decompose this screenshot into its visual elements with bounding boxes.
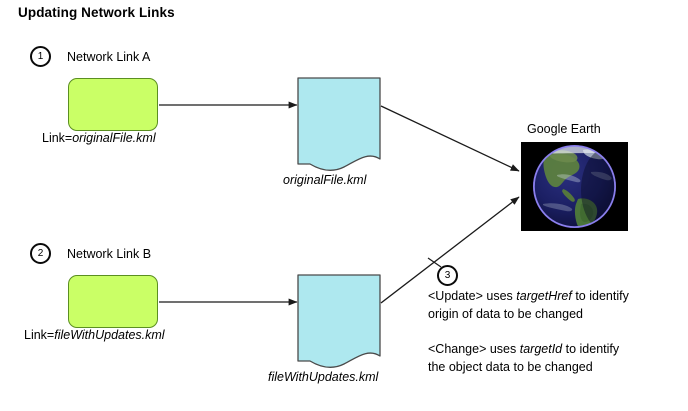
document-shape-originalfile [298,78,380,170]
step-marker-2: 2 [30,243,51,264]
globe-icon [521,142,628,231]
arrow-originalfile-to-earth [381,106,519,171]
step-marker-1-label: 1 [38,52,44,62]
note-update-emphasis: targetHref [516,289,572,303]
network-link-a-node[interactable] [68,78,158,131]
leader-line-note3 [428,258,441,267]
network-link-a-href-file: originalFile.kml [72,131,155,145]
note-update-text-b: to identify [572,289,629,303]
note-block-change-line1: <Change> uses targetId to identify [428,341,619,359]
page-title: Updating Network Links [18,5,175,20]
note-block-update-line2: origin of data to be changed [428,306,629,324]
document-shape-filewithupdates [298,275,380,367]
step-marker-3-label: 3 [445,271,451,281]
note-block-update: <Update> uses targetHref to identify ori… [428,288,629,323]
network-link-b-href-file: fileWithUpdates.kml [54,328,164,342]
note-block-update-line1: <Update> uses targetHref to identify [428,288,629,306]
network-link-a-href-label: Link=originalFile.kml [42,131,156,145]
step-marker-1: 1 [30,46,51,67]
note-block-change: <Change> uses targetId to identify the o… [428,341,619,376]
note-block-change-line2: the object data to be changed [428,359,619,377]
step-marker-3: 3 [437,265,458,286]
note-change-text-b: to identify [562,342,619,356]
network-link-a-title: Network Link A [67,50,150,64]
google-earth-globe-image [521,142,628,231]
network-link-b-title: Network Link B [67,247,151,261]
network-link-b-href-label: Link=fileWithUpdates.kml [24,328,165,342]
note-update-text-a: <Update> uses [428,289,516,303]
note-change-text-a: <Change> uses [428,342,520,356]
document-label-originalfile: originalFile.kml [283,173,366,187]
note-change-emphasis: targetId [520,342,562,356]
google-earth-label: Google Earth [527,122,601,136]
document-label-filewithupdates: fileWithUpdates.kml [268,370,378,384]
diagram-canvas: Updating Network Links 1 Network Link A … [0,0,688,411]
network-link-a-href-prefix: Link= [42,131,72,145]
network-link-b-node[interactable] [68,275,158,328]
network-link-b-href-prefix: Link= [24,328,54,342]
step-marker-2-label: 2 [38,249,44,259]
